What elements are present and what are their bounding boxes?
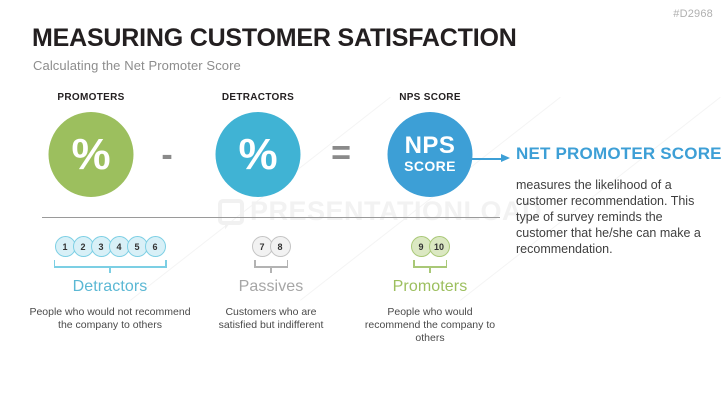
page-title: MEASURING CUSTOMER SATISFACTION: [32, 24, 517, 53]
nps-score-circle: NPS SCORE: [388, 112, 473, 197]
passive-number-circles: 7 8: [212, 236, 330, 257]
watermark: PRESENTATIONLOAD: [218, 196, 542, 227]
scale-bracket: [54, 260, 167, 273]
scale-group-description: Customers who are satisfied but indiffer…: [212, 306, 330, 332]
scale-group-title: Promoters: [362, 278, 498, 296]
callout-body: measures the likelihood of a customer re…: [516, 177, 712, 257]
bracket-stem: [109, 266, 111, 273]
nps-circle-line2: SCORE: [404, 159, 456, 174]
scale-group-promoters: 9 10 Promoters People who would recommen…: [362, 236, 498, 345]
detractors-percent-circle: %: [216, 112, 301, 197]
arrow-right-icon: [464, 154, 510, 163]
bracket-right-leg: [446, 260, 448, 267]
watermark-text: PRESENTATIONLOAD: [250, 196, 542, 227]
nps-circle-line1: NPS: [405, 134, 456, 158]
scale-group-passives: 7 8 Passives Customers who are satisfied…: [212, 236, 330, 332]
scale-number-circle[interactable]: 8: [270, 236, 291, 257]
detractors-circle-label: DETRACTORS: [222, 92, 294, 103]
scale-group-description: People who would recommend the company t…: [362, 306, 498, 345]
promoters-circle-label: PROMOTERS: [57, 92, 124, 103]
scale-bracket: [413, 260, 447, 273]
arrow-head: [501, 154, 510, 162]
bracket-stem: [270, 266, 272, 273]
minus-operator: -: [161, 138, 172, 172]
slide-canvas: PRESENTATIONLOAD #D2968 MEASURING CUSTOM…: [0, 0, 727, 409]
callout-heading: NET PROMOTER SCORE: [516, 144, 722, 164]
scale-bracket: [254, 260, 288, 273]
scale-group-title: Detractors: [25, 278, 195, 296]
presentationload-logo-icon: [218, 199, 244, 225]
promoter-number-circles: 9 10: [362, 236, 498, 257]
promoters-percent-circle: %: [49, 112, 134, 197]
scale-number-circle[interactable]: 10: [429, 236, 450, 257]
bracket-right-leg: [287, 260, 289, 267]
detractors-percent-symbol: %: [238, 133, 277, 177]
equals-operator: =: [331, 136, 351, 170]
bracket-stem: [429, 266, 431, 273]
scale-group-title: Passives: [212, 278, 330, 296]
page-subtitle: Calculating the Net Promoter Score: [33, 58, 241, 73]
scale-group-detractors: 1 2 3 4 5 6 Detractors People who would …: [25, 236, 195, 332]
arrow-shaft: [464, 158, 502, 160]
bracket-right-leg: [165, 260, 167, 267]
nps-score-circle-label: NPS SCORE: [399, 92, 461, 103]
promoters-percent-symbol: %: [71, 133, 110, 177]
document-code: #D2968: [673, 8, 713, 20]
scale-group-description: People who would not recommend the compa…: [25, 306, 195, 332]
scale-number-circle[interactable]: 6: [145, 236, 166, 257]
detractor-number-circles: 1 2 3 4 5 6: [25, 236, 195, 257]
horizontal-divider: [42, 217, 500, 218]
